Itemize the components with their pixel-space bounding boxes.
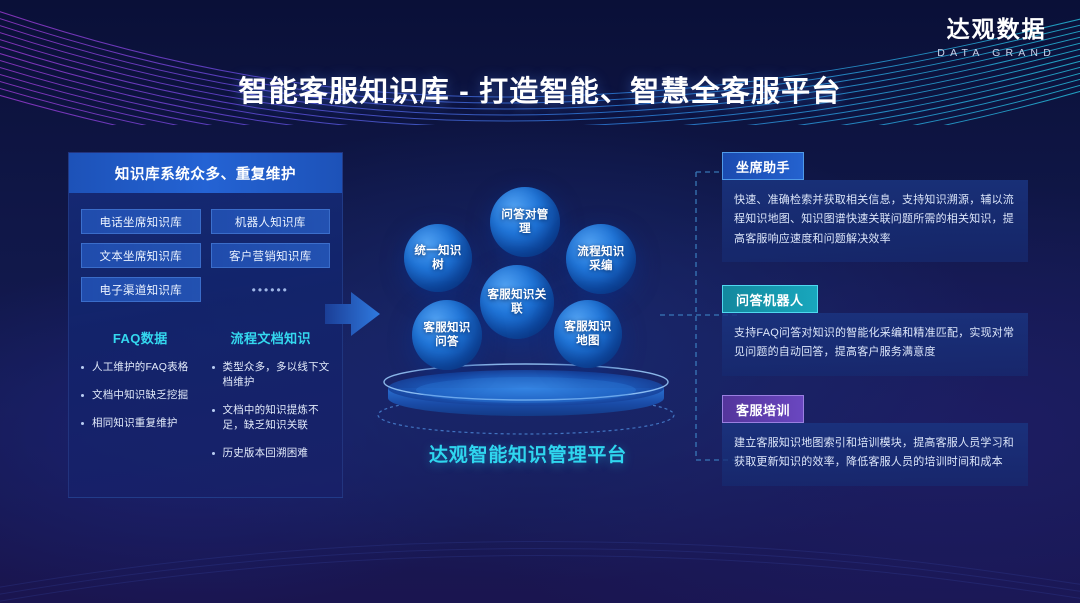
sphere-label: 客服知识地图 xyxy=(554,320,622,349)
knowledge-base-chip-grid: 电话坐席知识库 机器人知识库 文本坐席知识库 客户营销知识库 电子渠道知识库 •… xyxy=(69,193,342,302)
kb-chip[interactable]: 客户营销知识库 xyxy=(211,243,331,268)
capability-card-agent-assistant[interactable]: 坐席助手 快速、准确检索并获取相关信息，支持知识溯源，辅以流程知识地图、知识图谱… xyxy=(722,152,1028,262)
bullet-item: 文档中知识缺乏挖掘 xyxy=(79,388,202,403)
sphere-service-knowledge-association[interactable]: 客服知识关联 xyxy=(480,265,554,339)
kb-chip[interactable]: 电话坐席知识库 xyxy=(81,209,201,234)
capability-card-service-training[interactable]: 客服培训 建立客服知识地图索引和培训模块，提高客服人员学习和获取更新知识的效率，… xyxy=(722,395,1028,486)
page-title: 智能客服知识库 - 打造智能、智慧全客服平台 xyxy=(0,68,1080,110)
sphere-label: 流程知识采编 xyxy=(566,245,636,274)
platform-label: 达观智能知识管理平台 xyxy=(368,440,688,467)
sphere-service-knowledge-map[interactable]: 客服知识地图 xyxy=(554,300,622,368)
sphere-label: 问答对管理 xyxy=(490,208,560,237)
sphere-process-knowledge-editing[interactable]: 流程知识采编 xyxy=(566,224,636,294)
kb-chip[interactable]: 文本坐席知识库 xyxy=(81,243,201,268)
card-description: 快速、准确检索并获取相关信息，支持知识溯源，辅以流程知识地图、知识图谱快速关联问… xyxy=(722,180,1028,262)
knowledge-platform-diagram: 统一知识树 问答对管理 流程知识采编 客服知识关联 客服知识问答 客服知识地图 … xyxy=(368,182,688,482)
card-description: 支持FAQ问答对知识的智能化采编和精准匹配，实现对常见问题的自动回答，提高客户服… xyxy=(722,313,1028,376)
column-heading: 流程文档知识 xyxy=(210,328,333,347)
capability-card-qa-robot[interactable]: 问答机器人 支持FAQ问答对知识的智能化采编和精准匹配，实现对常见问题的自动回答… xyxy=(722,285,1028,376)
sphere-service-knowledge-qa[interactable]: 客服知识问答 xyxy=(412,300,482,370)
sphere-label: 客服知识问答 xyxy=(412,321,482,350)
brand-name-en: DATA GRAND xyxy=(937,48,1056,59)
brand-logo: 达观数据 DATA GRAND xyxy=(937,18,1056,59)
pain-point-columns: FAQ数据 人工维护的FAQ表格 文档中知识缺乏挖掘 相同知识重复维护 流程文档… xyxy=(69,302,342,474)
sphere-unified-knowledge-tree[interactable]: 统一知识树 xyxy=(404,224,472,292)
bullet-item: 人工维护的FAQ表格 xyxy=(79,360,202,375)
sphere-qa-pair-management[interactable]: 问答对管理 xyxy=(490,187,560,257)
sphere-label: 客服知识关联 xyxy=(480,288,554,317)
decorative-wave-lines-bottom xyxy=(0,493,1080,603)
card-badge-label: 客服培训 xyxy=(722,395,804,423)
panel-header-title: 知识库系统众多、重复维护 xyxy=(69,153,342,193)
kb-chip[interactable]: 机器人知识库 xyxy=(211,209,331,234)
sphere-label: 统一知识树 xyxy=(404,244,472,273)
kb-chip[interactable]: 电子渠道知识库 xyxy=(81,277,201,302)
pain-points-panel: 知识库系统众多、重复维护 电话坐席知识库 机器人知识库 文本坐席知识库 客户营销… xyxy=(68,152,343,498)
bullet-item: 历史版本回溯困难 xyxy=(210,446,333,461)
bullet-item: 文档中的知识提炼不足，缺乏知识关联 xyxy=(210,403,333,433)
column-bullets: 人工维护的FAQ表格 文档中知识缺乏挖掘 相同知识重复维护 xyxy=(79,360,202,431)
pain-column-faq: FAQ数据 人工维护的FAQ表格 文档中知识缺乏挖掘 相同知识重复维护 xyxy=(79,328,202,474)
kb-chip-ellipsis: •••••• xyxy=(211,277,331,302)
column-bullets: 类型众多，多以线下文档维护 文档中的知识提炼不足，缺乏知识关联 历史版本回溯困难 xyxy=(210,360,333,461)
card-badge-label: 问答机器人 xyxy=(722,285,818,313)
pain-column-process-doc: 流程文档知识 类型众多，多以线下文档维护 文档中的知识提炼不足，缺乏知识关联 历… xyxy=(210,328,333,474)
platform-base-disc xyxy=(376,360,676,436)
card-description: 建立客服知识地图索引和培训模块，提高客服人员学习和获取更新知识的效率，降低客服人… xyxy=(722,423,1028,486)
card-badge-label: 坐席助手 xyxy=(722,152,804,180)
bullet-item: 相同知识重复维护 xyxy=(79,416,202,431)
column-heading: FAQ数据 xyxy=(79,328,202,347)
bullet-item: 类型众多，多以线下文档维护 xyxy=(210,360,333,390)
brand-name-cn: 达观数据 xyxy=(937,18,1056,41)
